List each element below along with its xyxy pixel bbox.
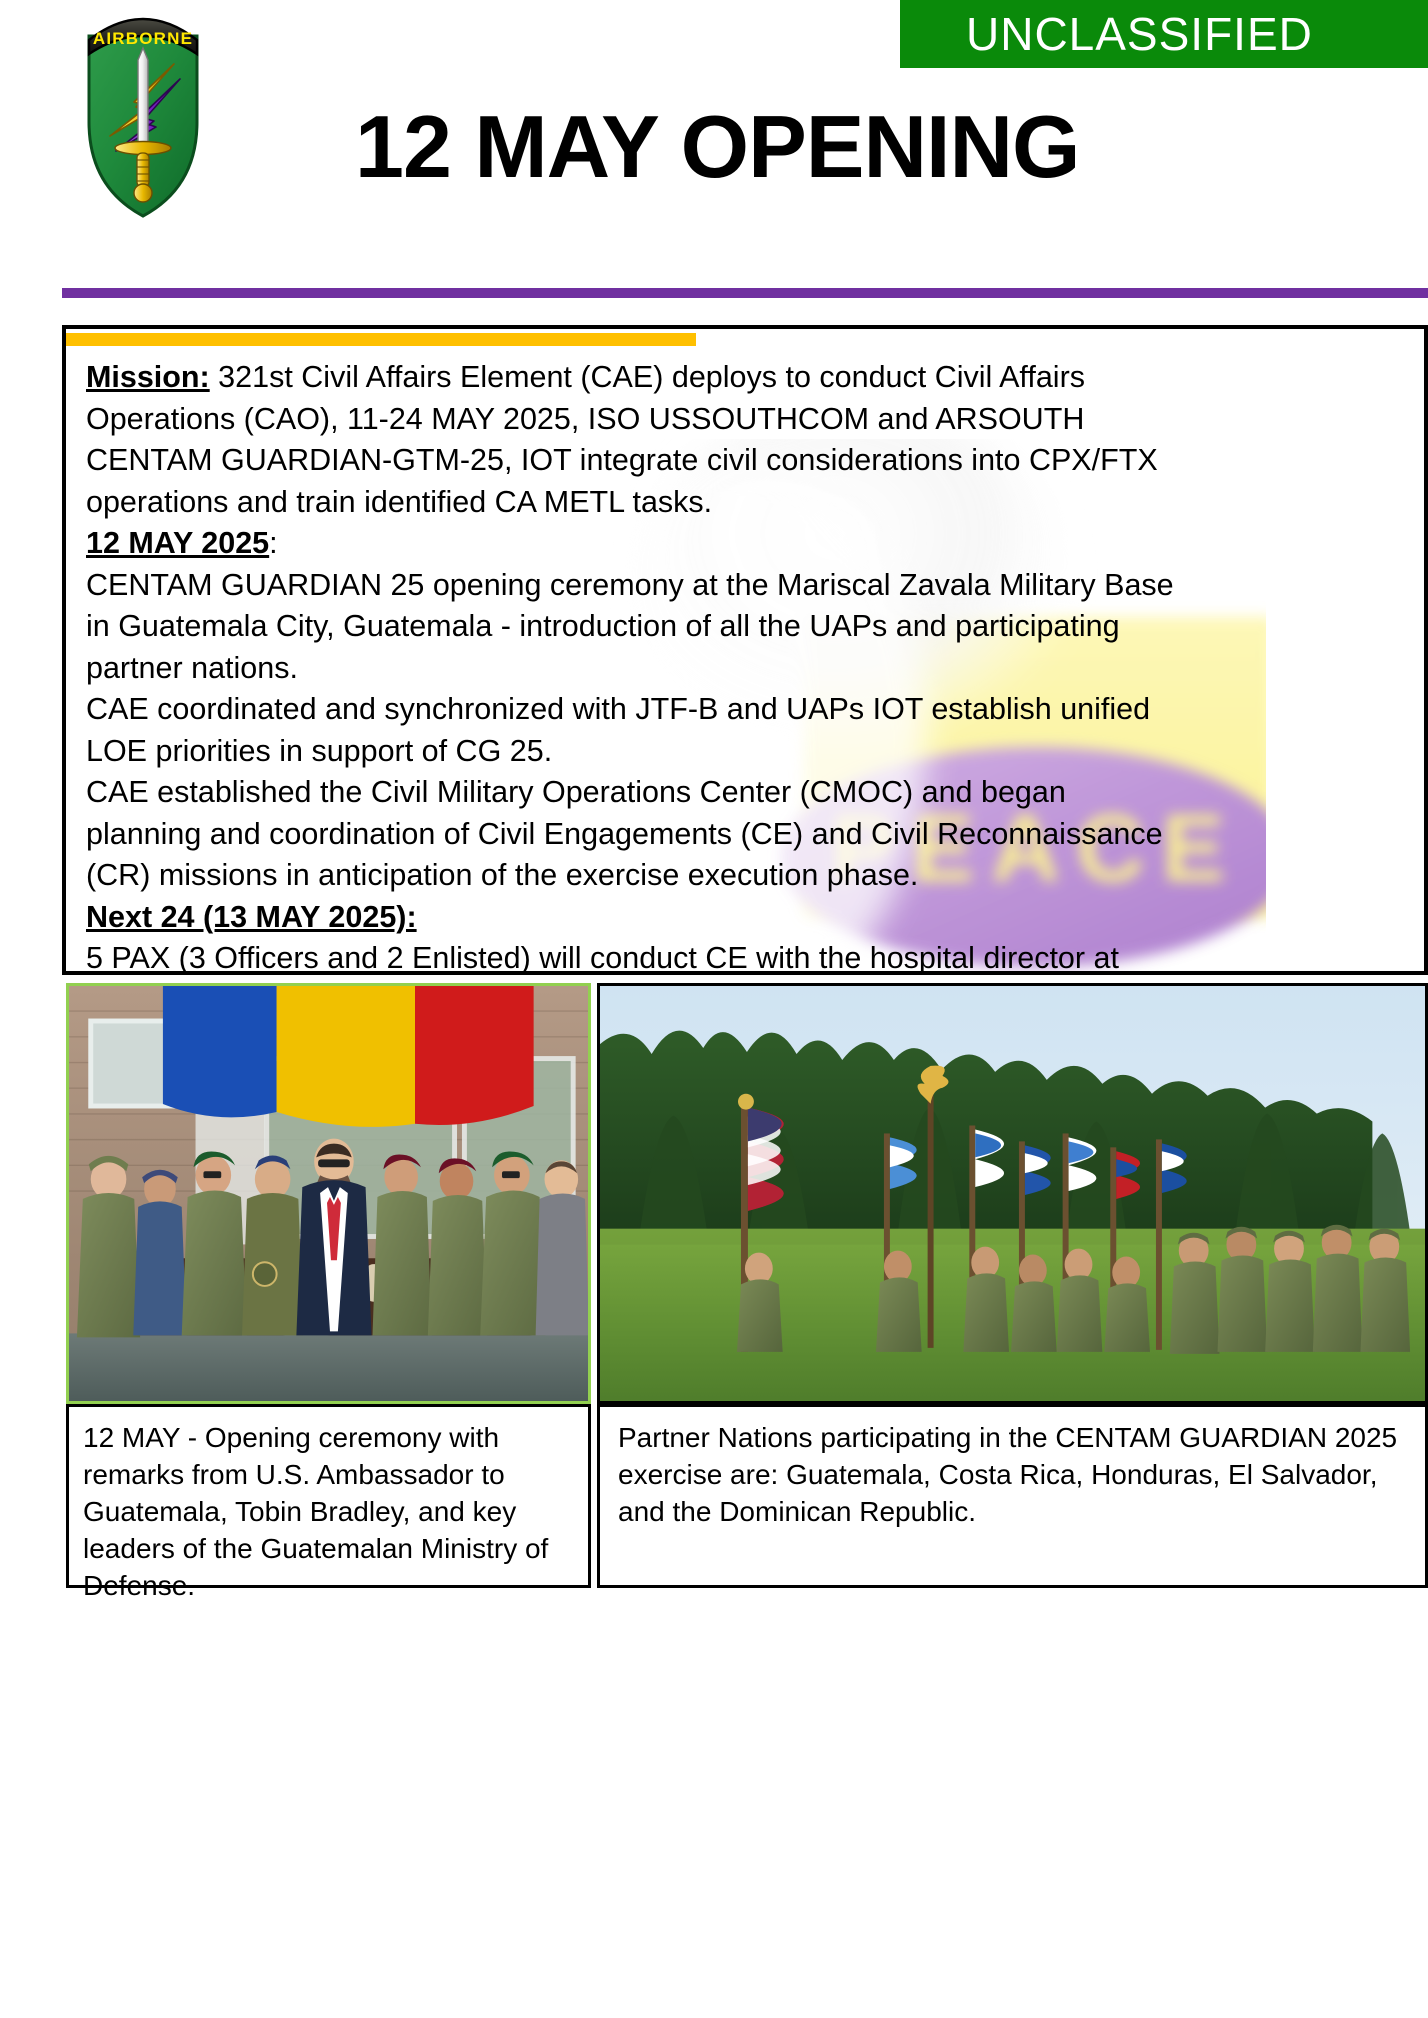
mission-body-line: 5 PAX (3 Officers and 2 Enlisted) will c… xyxy=(86,938,1426,975)
mission-body-text-run: operations and train identified CA METL … xyxy=(86,485,712,519)
mission-body-heading: 12 MAY 2025 xyxy=(86,526,269,560)
partner-nations-image xyxy=(600,986,1425,1401)
mission-body-text-run: 321st Civil Affairs Element (CAE) deploy… xyxy=(210,360,1085,394)
classification-banner: UNCLASSIFIED xyxy=(900,0,1428,68)
svg-text:AIRBORNE: AIRBORNE xyxy=(93,29,193,48)
photo-opening-ceremony xyxy=(66,983,591,1404)
mission-body-line: CAE established the Civil Military Opera… xyxy=(86,772,1426,814)
mission-body-text-run: CAE established the Civil Military Opera… xyxy=(86,775,1066,809)
mission-body-heading: Next 24 (13 MAY 2025): xyxy=(86,900,417,934)
mission-body-line: Next 24 (13 MAY 2025): xyxy=(86,897,1426,939)
mission-body-text: Mission: 321st Civil Affairs Element (CA… xyxy=(86,357,1426,975)
mission-body-text-run: 5 PAX (3 Officers and 2 Enlisted) will c… xyxy=(86,941,1119,975)
mission-body-text-run: in Guatemala City, Guatemala - introduct… xyxy=(86,609,1120,643)
mission-body-text-run: Operations (CAO), 11-24 MAY 2025, ISO US… xyxy=(86,402,1084,436)
mission-body-text-run: planning and coordination of Civil Engag… xyxy=(86,817,1163,851)
mission-body-line: Operations (CAO), 11-24 MAY 2025, ISO US… xyxy=(86,399,1426,441)
mission-body-text-run: CAE coordinated and synchronized with JT… xyxy=(86,692,1150,726)
mission-body-line: planning and coordination of Civil Engag… xyxy=(86,814,1426,856)
unit-patch-logo: AIRBORNE xyxy=(62,2,224,220)
mission-body-line: in Guatemala City, Guatemala - introduct… xyxy=(86,606,1426,648)
mission-body-text-run: : xyxy=(269,526,277,560)
mission-body-line: Mission: 321st Civil Affairs Element (CA… xyxy=(86,357,1426,399)
caption-right: Partner Nations participating in the CEN… xyxy=(597,1404,1428,1588)
gold-accent-rule xyxy=(66,333,696,346)
mission-body-text-run: CENTAM GUARDIAN-GTM-25, IOT integrate ci… xyxy=(86,443,1158,477)
mission-body-line: CENTAM GUARDIAN 25 opening ceremony at t… xyxy=(86,565,1426,607)
airborne-patch-icon: AIRBORNE xyxy=(62,2,224,220)
page-title: 12 MAY OPENING xyxy=(355,96,1080,198)
mission-body-text-run: (CR) missions in anticipation of the exe… xyxy=(86,858,918,892)
mission-body-text-run: CENTAM GUARDIAN 25 opening ceremony at t… xyxy=(86,568,1174,602)
caption-left: 12 MAY - Opening ceremony with remarks f… xyxy=(66,1404,591,1588)
opening-ceremony-image xyxy=(69,986,588,1401)
mission-body-text-run: LOE priorities in support of CG 25. xyxy=(86,734,552,768)
mission-body-line: (CR) missions in anticipation of the exe… xyxy=(86,855,1426,897)
mission-body-line: 12 MAY 2025: xyxy=(86,523,1426,565)
mission-body-line: operations and train identified CA METL … xyxy=(86,482,1426,524)
mission-body-text-run: partner nations. xyxy=(86,651,298,685)
mission-body-heading: Mission: xyxy=(86,360,210,394)
mission-body-line: CENTAM GUARDIAN-GTM-25, IOT integrate ci… xyxy=(86,440,1426,482)
mission-body-line: CAE coordinated and synchronized with JT… xyxy=(86,689,1426,731)
photo-partner-nations xyxy=(597,983,1428,1404)
mission-body-line: partner nations. xyxy=(86,648,1426,690)
mission-body-line: LOE priorities in support of CG 25. xyxy=(86,731,1426,773)
mission-summary-box: PEACE Mission: 321st Civil Affairs Eleme… xyxy=(62,325,1428,975)
purple-divider-rule xyxy=(62,288,1428,298)
